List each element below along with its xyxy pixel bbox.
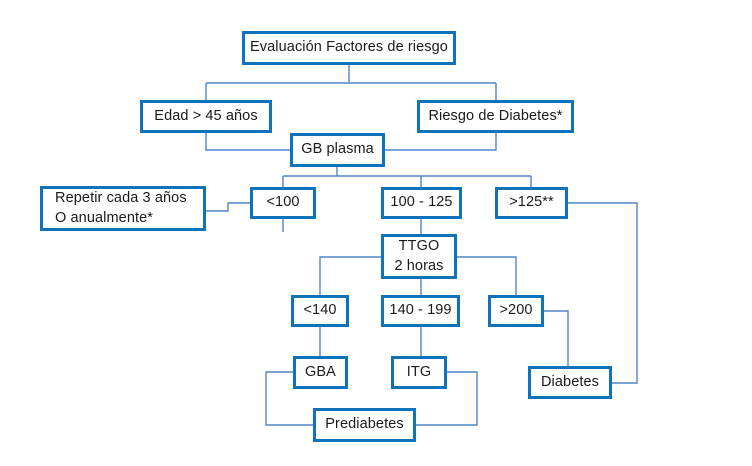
connector-edad-to-gb [206,133,290,150]
node-menor-140[interactable]: <140 [291,295,349,327]
node-140-199[interactable]: 140 - 199 [381,295,460,327]
node-diabetes[interactable]: Diabetes [528,366,612,399]
flowchart-canvas: Evaluación Factores de riesgoEdad > 45 a… [0,0,752,466]
node-ttgo[interactable]: TTGO 2 horas [381,234,457,279]
node-mayor-125[interactable]: >125** [495,187,568,219]
connector-gb-split [283,167,531,187]
node-menor-100[interactable]: <100 [250,187,316,219]
node-repetir[interactable]: Repetir cada 3 años O anualmente* [40,186,206,231]
connector-mayor200-to-diabetes [544,311,568,366]
node-gba[interactable]: GBA [293,356,348,389]
node-edad[interactable]: Edad > 45 años [140,100,272,133]
connector-ttgo-right-to-200 [457,257,516,295]
connector-mayor125-to-diabetes [568,203,637,383]
connector-repetir-to-menor100 [206,203,250,211]
connector-riesgo-to-gb [385,133,496,150]
connector-evaluacion-split [206,65,496,100]
node-100-125[interactable]: 100 - 125 [381,187,462,219]
node-itg[interactable]: ITG [391,356,447,389]
connector-layer [0,0,752,466]
connector-ttgo-left-to-140 [320,257,381,295]
node-riesgo[interactable]: Riesgo de Diabetes* [417,100,574,133]
node-evaluacion[interactable]: Evaluación Factores de riesgo [242,31,456,65]
node-gb-plasma[interactable]: GB plasma [290,133,385,167]
node-prediabetes[interactable]: Prediabetes [313,408,416,442]
node-mayor-200[interactable]: >200 [488,295,544,327]
